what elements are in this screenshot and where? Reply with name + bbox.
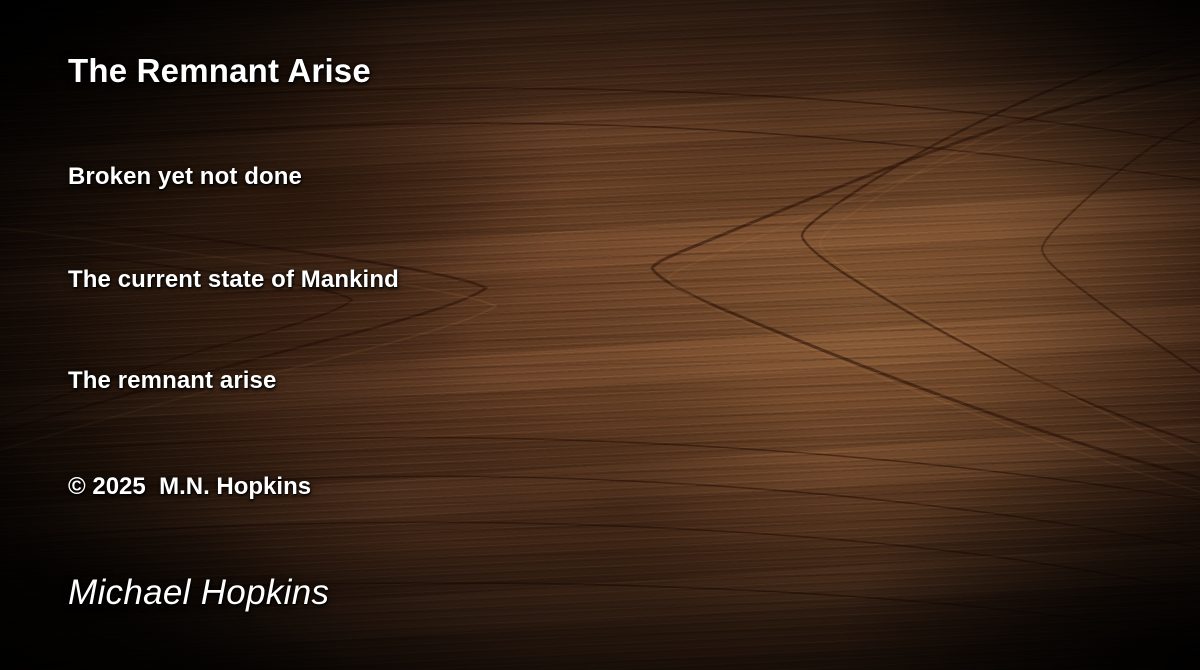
poem-title: The Remnant Arise xyxy=(68,52,371,90)
poem-line-3: The remnant arise xyxy=(68,367,276,395)
poem-line-1: Broken yet not done xyxy=(68,163,302,191)
poem-text-block: The Remnant Arise Broken yet not done Th… xyxy=(0,0,1200,670)
poem-line-2: The current state of Mankind xyxy=(68,266,399,294)
poem-image-card: The Remnant Arise Broken yet not done Th… xyxy=(0,0,1200,670)
author-signature: Michael Hopkins xyxy=(68,573,329,613)
copyright-notice: © 2025 M.N. Hopkins xyxy=(68,473,311,501)
